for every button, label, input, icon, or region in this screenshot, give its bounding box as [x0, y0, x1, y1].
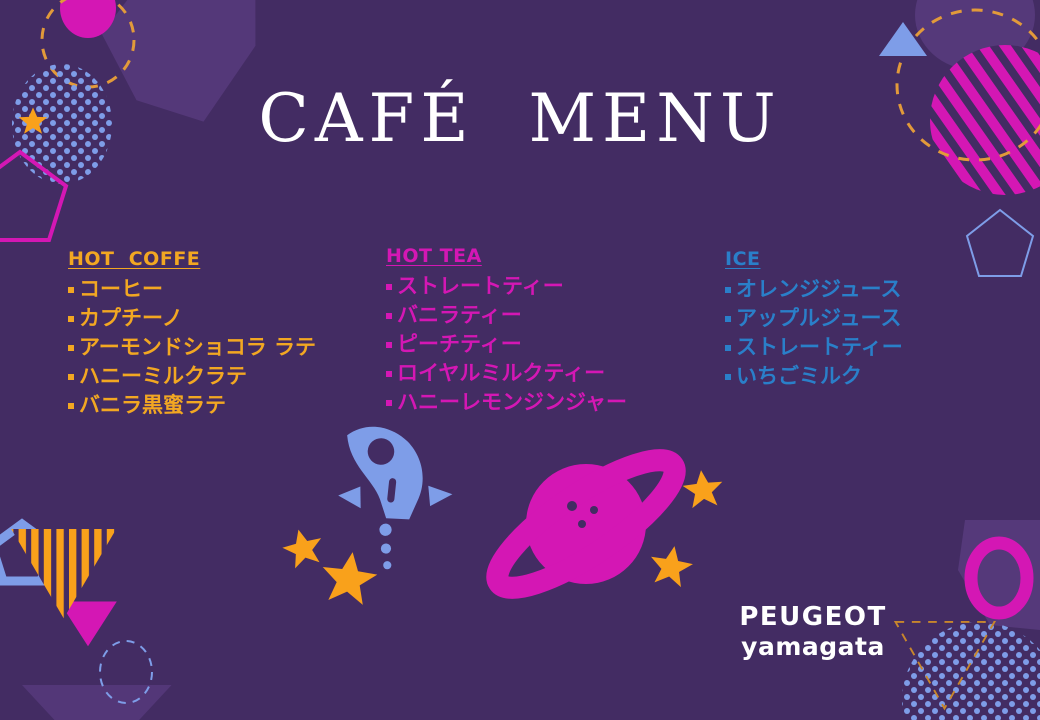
- blue-triangle-topright: [879, 22, 927, 56]
- deco-group-bottom-left: [0, 524, 172, 720]
- menu-item: いちごミルク: [725, 362, 903, 391]
- menu-item-label: アップルジュース: [736, 304, 901, 333]
- menu-item-list: ストレートティー バニラティー ピーチティー ロイヤルミルクティー ハニーレモン…: [386, 272, 627, 417]
- menu-item: ピーチティー: [386, 330, 627, 359]
- menu-item-label: ハニーミルクラテ: [79, 362, 247, 391]
- blue-pentagon-bottomleft: [0, 524, 52, 581]
- bullet-icon: [386, 284, 392, 290]
- bullet-icon: [68, 374, 74, 380]
- bullet-icon: [725, 374, 731, 380]
- star-icon: [18, 106, 48, 136]
- menu-column-heading: ICE: [725, 248, 903, 270]
- bullet-icon: [725, 345, 731, 351]
- brand-logo-secondary: yamagata: [733, 633, 893, 661]
- menu-column-hot-coffe: HOT COFFE コーヒー カプチーノ アーモンドショコラ ラテ ハニーミルク…: [68, 248, 316, 420]
- menu-item: アップルジュース: [725, 304, 903, 333]
- menu-item: ストレートティー: [386, 272, 627, 301]
- menu-item-label: バニラティー: [397, 301, 522, 330]
- bullet-icon: [386, 371, 392, 377]
- bullet-icon: [68, 287, 74, 293]
- star-icon: [318, 548, 380, 606]
- menu-item-label: オレンジジュース: [736, 275, 901, 304]
- menu-item: コーヒー: [68, 275, 316, 304]
- menu-item-list: オレンジジュース アップルジュース ストレートティー いちごミルク: [725, 275, 903, 391]
- menu-item: アーモンドショコラ ラテ: [68, 333, 316, 362]
- menu-item-label: ストレートティー: [736, 333, 903, 362]
- orange-striped-triangle-bottomleft: [11, 529, 116, 618]
- menu-item-label: いちごミルク: [736, 362, 862, 391]
- menu-item: バニラティー: [386, 301, 627, 330]
- menu-item: ロイヤルミルクティー: [386, 359, 627, 388]
- light-purple-shape-bottomright: [958, 520, 1040, 630]
- bullet-icon: [68, 403, 74, 409]
- menu-item: オレンジジュース: [725, 275, 903, 304]
- light-purple-ellipse-topright: [915, 0, 1035, 70]
- menu-item: カプチーノ: [68, 304, 316, 333]
- deco-group-bottom-right: [896, 520, 1040, 720]
- menu-item: ハニーミルクラテ: [68, 362, 316, 391]
- bullet-icon: [68, 316, 74, 322]
- cafe-menu-poster: CAFÉ MENU HOT COFFE コーヒー カプチーノ アーモンドショコラ…: [0, 0, 1040, 720]
- orange-dashed-triangle-bottomright: [896, 622, 995, 708]
- menu-item-label: ロイヤルミルクティー: [397, 359, 605, 388]
- bullet-icon: [386, 313, 392, 319]
- star-icon: [681, 468, 725, 509]
- menu-item-label: バニラ黒蜜ラテ: [79, 391, 226, 420]
- blue-dashed-ellipse-bottomleft: [100, 641, 152, 703]
- magenta-ring-bottomright: [971, 543, 1027, 613]
- planet-saturn-icon: [482, 440, 690, 607]
- menu-column-heading: HOT COFFE: [68, 248, 316, 270]
- brand-logo: PEUGEOT yamagata: [733, 604, 893, 661]
- periwinkle-pentagon-topright: [967, 210, 1033, 276]
- menu-item: ハニーレモンジンジャー: [386, 388, 627, 417]
- menu-column-ice: ICE オレンジジュース アップルジュース ストレートティー いちごミルク: [725, 248, 903, 391]
- star-icon: [647, 542, 696, 588]
- bullet-icon: [725, 287, 731, 293]
- menu-item-label: ピーチティー: [397, 330, 522, 359]
- page-title-text: CAFÉ MENU: [258, 86, 781, 152]
- star-icon: [279, 525, 327, 570]
- menu-item-label: ハニーレモンジンジャー: [397, 388, 627, 417]
- menu-column-heading: HOT TEA: [386, 245, 627, 267]
- bullet-icon: [386, 342, 392, 348]
- menu-item-label: ストレートティー: [397, 272, 564, 301]
- menu-item-label: コーヒー: [79, 275, 163, 304]
- menu-item-list: コーヒー カプチーノ アーモンドショコラ ラテ ハニーミルクラテ バニラ黒蜜ラテ: [68, 275, 316, 420]
- brand-logo-primary: PEUGEOT: [733, 604, 893, 631]
- bullet-icon: [68, 345, 74, 351]
- purple-triangle-bottomleft: [22, 685, 172, 720]
- magenta-pentagon-topleft: [0, 152, 66, 240]
- bullet-icon: [725, 316, 731, 322]
- bullet-icon: [386, 400, 392, 406]
- rocket-icon: [302, 408, 463, 571]
- menu-item: バニラ黒蜜ラテ: [68, 391, 316, 420]
- orange-dashed-circle-topleft: [42, 0, 134, 87]
- blue-dotted-circle-bottomright: [902, 622, 1040, 720]
- menu-column-hot-tea: HOT TEA ストレートティー バニラティー ピーチティー ロイヤルミルクティ…: [386, 245, 627, 417]
- page-title: CAFÉ MENU: [0, 86, 1040, 152]
- menu-item: ストレートティー: [725, 333, 903, 362]
- menu-item-label: アーモンドショコラ ラテ: [79, 333, 316, 362]
- magenta-triangle-bottomleft: [59, 601, 117, 646]
- menu-item-label: カプチーノ: [79, 304, 183, 333]
- magenta-ellipse-topleft: [60, 0, 116, 38]
